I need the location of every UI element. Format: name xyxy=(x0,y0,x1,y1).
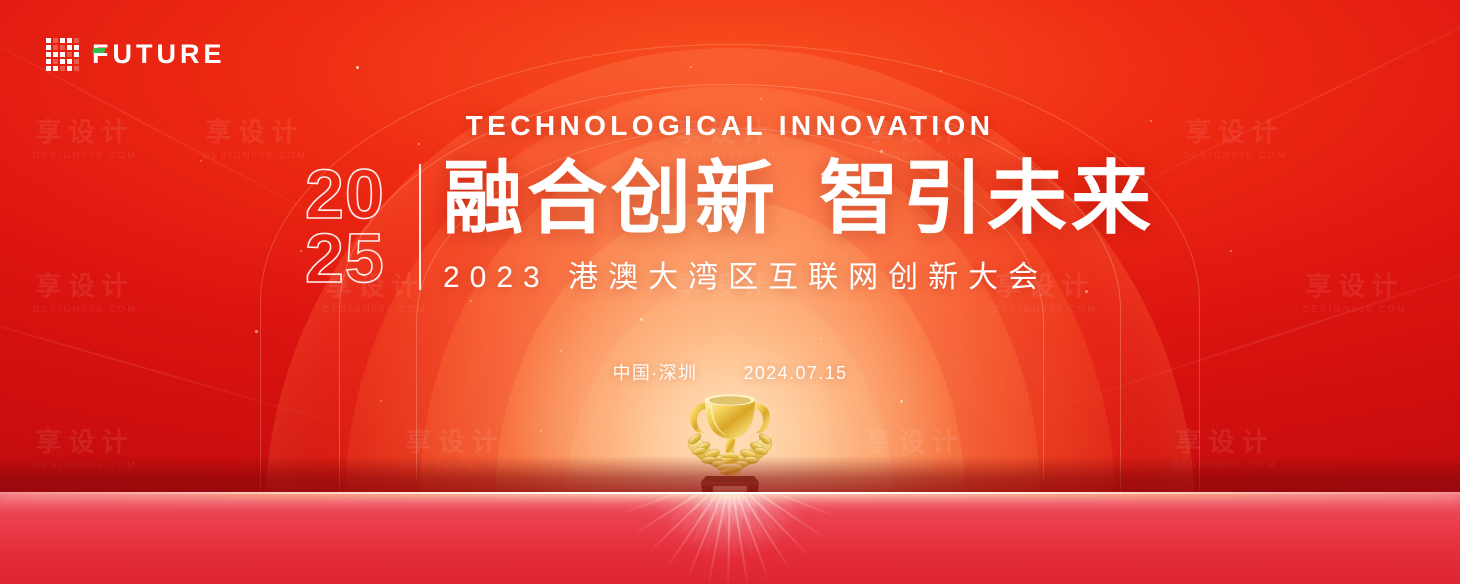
year-badge: 20 25 xyxy=(305,162,413,302)
vertical-divider xyxy=(419,164,421,290)
perspective-rays xyxy=(0,492,1460,584)
event-meta: 中国·深圳2024.07.15 xyxy=(0,359,1460,385)
main-title: 融合创新智引未来 xyxy=(443,158,1155,240)
year-top: 20 xyxy=(305,162,385,226)
event-poster: 享设计 DESIGN006.COM 享设计 DESIGN006.COM 享设计 … xyxy=(0,0,1460,584)
logo-text: FUTURE xyxy=(92,39,226,69)
event-location: 中国·深圳 xyxy=(612,363,697,383)
main-title-left: 融合创新 xyxy=(443,154,779,243)
eyebrow-title: TECHNOLOGICAL INNOVATION xyxy=(0,110,1460,142)
horizon-line xyxy=(0,492,1460,494)
main-title-right: 智引未来 xyxy=(819,154,1155,243)
subtitle: 2023 港澳大湾区互联网创新大会 xyxy=(443,252,1155,296)
brand-logo[interactable]: FUTURE xyxy=(46,38,226,71)
grid-logo-icon xyxy=(46,38,79,71)
event-date: 2024.07.15 xyxy=(743,363,847,383)
brand-logo-text: FUTURE xyxy=(92,41,226,68)
year-bottom: 25 xyxy=(305,226,385,290)
stage-shadow-band xyxy=(0,456,1460,492)
title-group: 融合创新智引未来 2023 港澳大湾区互联网创新大会 xyxy=(443,158,1155,296)
stage-floor xyxy=(0,492,1460,584)
logo-accent-slash xyxy=(92,48,106,53)
headline-row: 20 25 融合创新智引未来 2023 港澳大湾区互联网创新大会 xyxy=(0,158,1460,302)
